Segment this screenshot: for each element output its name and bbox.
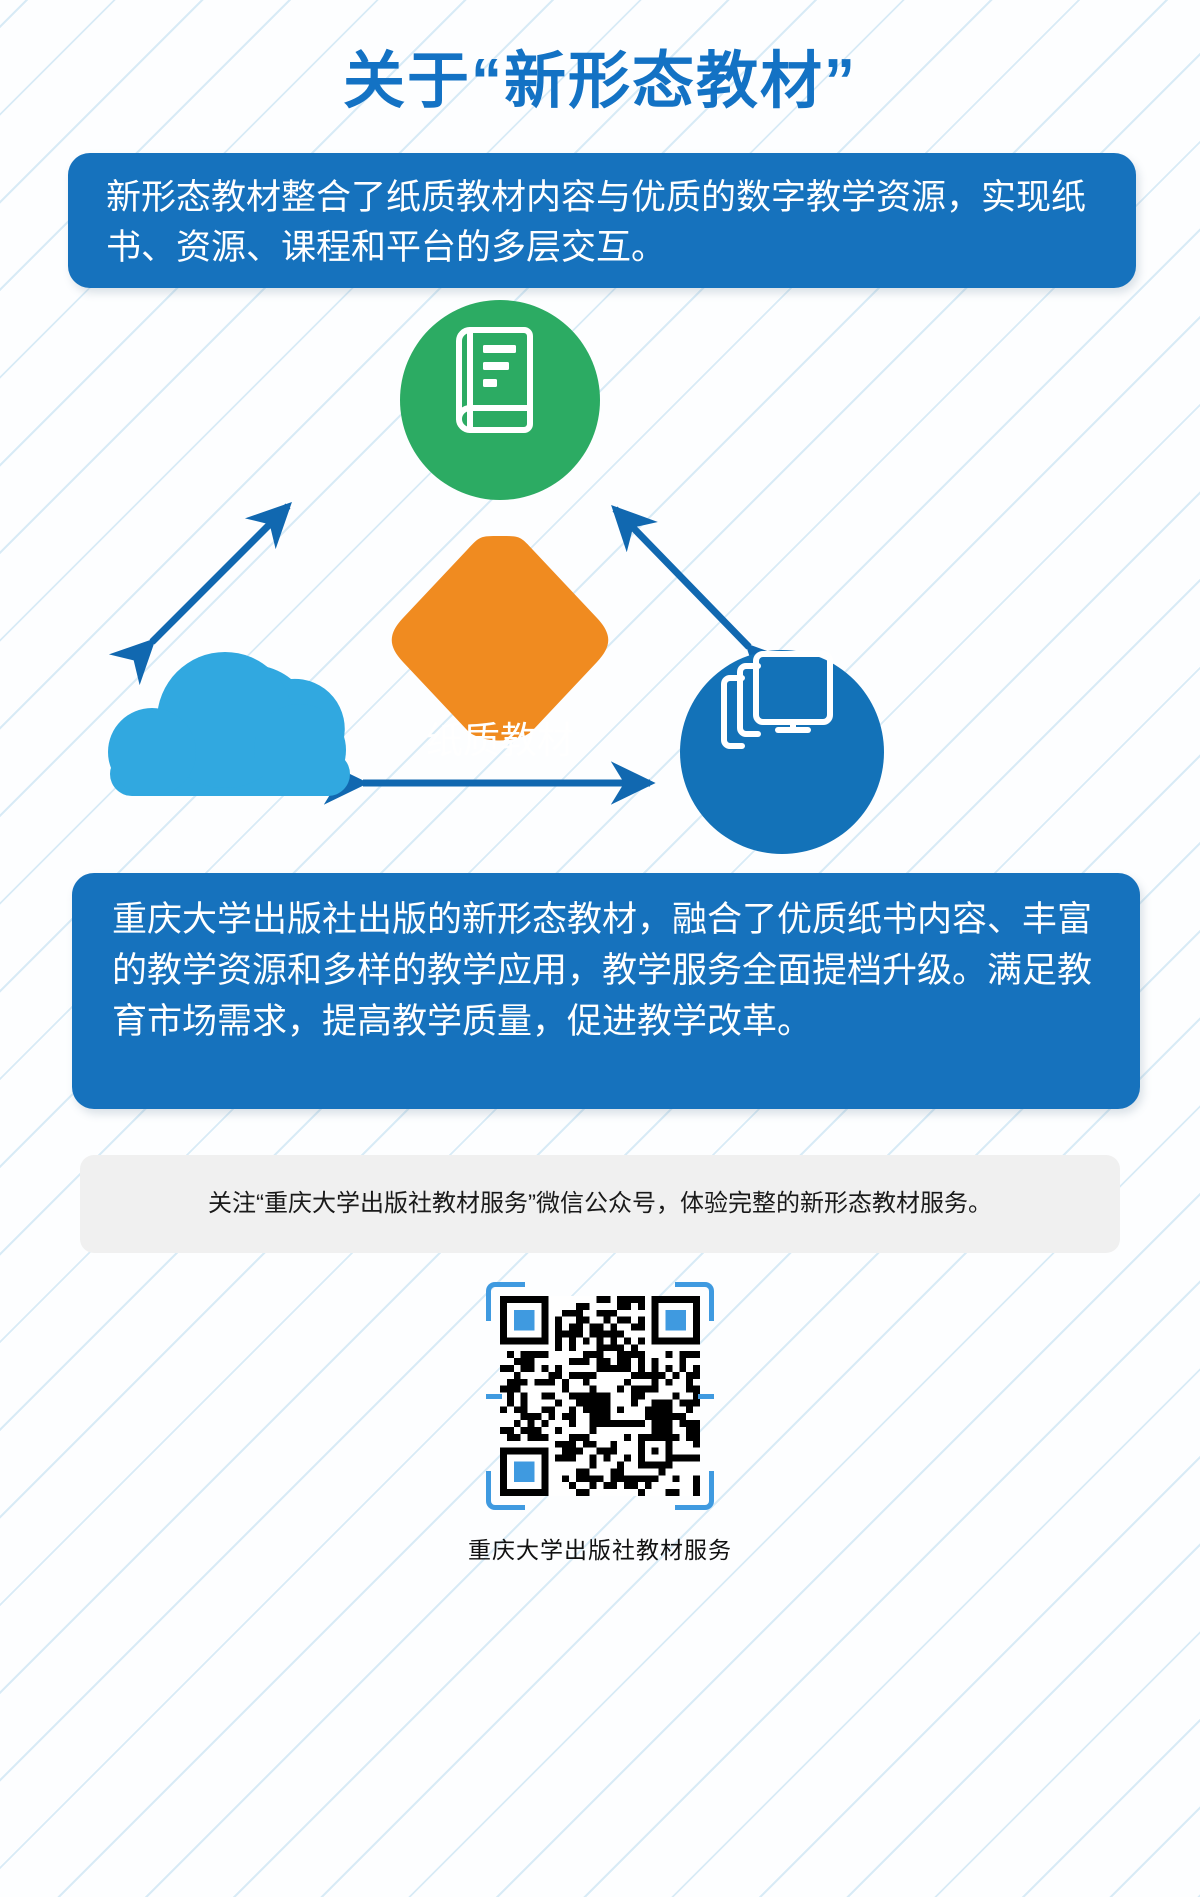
qr-frame-corner-top-right-icon <box>675 1282 714 1321</box>
connector-cloud-paper <box>152 506 288 642</box>
notice-bar: 关注“重庆大学出版社教材服务”微信公众号，体验完整的新形态教材服务。 <box>80 1155 1120 1253</box>
qr-code-image <box>500 1296 700 1496</box>
node-resource-course <box>680 650 884 854</box>
infographic-page: 关于“新形态教材” 新形态教材整合了纸质教材内容与优质的数字教学资源，实现纸书、… <box>0 0 1200 1897</box>
qr-frame-corner-bottom-right-icon <box>675 1471 714 1510</box>
qr-code[interactable] <box>486 1282 714 1510</box>
node-cloud-platform <box>108 652 350 796</box>
qr-caption: 重庆大学出版社教材服务 <box>0 1531 1200 1565</box>
node-paper-textbook <box>400 300 600 500</box>
qr-block: 重庆大学出版社教材服务 <box>0 1282 1200 1565</box>
qr-frame-corner-bottom-left-icon <box>486 1471 525 1510</box>
page-title: 关于“新形态教材” <box>0 46 1200 117</box>
relationship-diagram: 纸质教材 云平台 资源/课程 新形态 教材 <box>0 300 1200 870</box>
summary-panel-text: 重庆大学出版社出版的新形态教材，融合了优质纸书内容、丰富的教学资源和多样的教学应… <box>112 895 1102 1047</box>
connector-resource-paper <box>615 509 749 647</box>
qr-frame-tick-right-icon <box>698 1394 714 1399</box>
summary-panel: 重庆大学出版社出版的新形态教材，融合了优质纸书内容、丰富的教学资源和多样的教学应… <box>72 873 1140 1109</box>
qr-frame-tick-left-icon <box>486 1394 502 1399</box>
qr-frame-corner-top-left-icon <box>486 1282 525 1321</box>
intro-panel-text: 新形态教材整合了纸质教材内容与优质的数字教学资源，实现纸书、资源、课程和平台的多… <box>106 173 1100 272</box>
intro-panel: 新形态教材整合了纸质教材内容与优质的数字教学资源，实现纸书、资源、课程和平台的多… <box>68 153 1136 288</box>
notice-text: 关注“重庆大学出版社教材服务”微信公众号，体验完整的新形态教材服务。 <box>208 1187 992 1221</box>
node-center-new-form-textbook <box>392 536 609 741</box>
